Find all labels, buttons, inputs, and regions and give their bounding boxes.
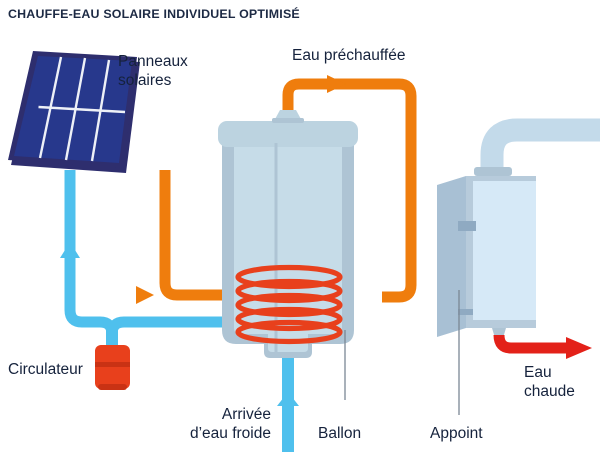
label-backup: Appoint	[430, 425, 483, 442]
label-solar-panels-line2: solaires	[118, 72, 172, 89]
boiler-flue-collar	[474, 167, 512, 176]
label-hot-water-line2: chaude	[524, 383, 575, 400]
boiler-top-trim	[466, 176, 536, 181]
label-hot-water-line1: Eau	[524, 364, 552, 381]
diagram-page: CHAUFFE-EAU SOLAIRE INDIVIDUEL OPTIMISÉ …	[0, 0, 600, 452]
tank-top-collar	[272, 118, 304, 123]
boiler-display-panel	[458, 221, 476, 231]
label-preheated-water: Eau préchauffée	[292, 47, 405, 64]
solar-water-heater-diagram: CHAUFFE-EAU SOLAIRE INDIVIDUEL OPTIMISÉ …	[0, 0, 600, 452]
page-title: CHAUFFE-EAU SOLAIRE INDIVIDUEL OPTIMISÉ	[8, 6, 300, 21]
boiler-vent-slot	[458, 309, 473, 315]
label-cold-inlet-line2: d’eau froide	[190, 425, 271, 442]
label-tank: Ballon	[318, 425, 361, 442]
pump-band	[95, 362, 130, 367]
label-cold-inlet-line1: Arrivée	[222, 406, 271, 423]
tank-cap	[218, 121, 358, 147]
pump-base	[98, 384, 127, 390]
boiler-front-panel	[466, 176, 536, 328]
boiler-front-trim	[466, 176, 473, 328]
circulator-pump	[95, 345, 130, 390]
label-circulator: Circulateur	[8, 361, 83, 378]
label-solar-panels-line1: Panneaux	[118, 53, 188, 70]
boiler-bottom-trim	[466, 320, 536, 328]
storage-tank	[218, 110, 358, 358]
